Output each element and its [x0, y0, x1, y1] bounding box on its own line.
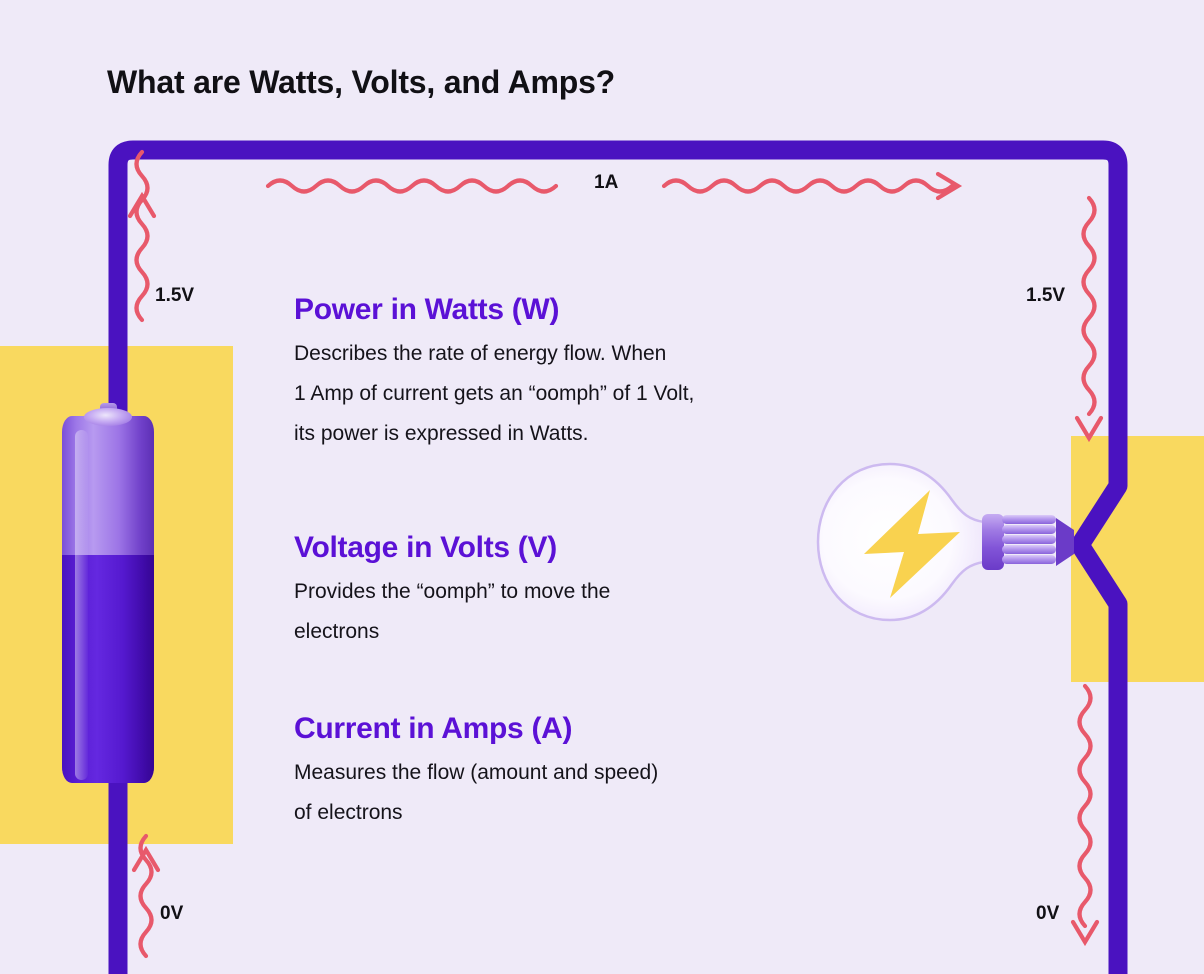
voltage-wave-top-right [1084, 198, 1095, 414]
concept-heading-amps: Current in Amps (A) [294, 712, 894, 745]
voltage-label-top-right: 1.5V [1026, 285, 1065, 307]
concept-heading-volts: Voltage in Volts (V) [294, 531, 894, 564]
concept-block-volts: Voltage in Volts (V) Provides the “oomph… [294, 531, 894, 652]
page-title: What are Watts, Volts, and Amps? [107, 64, 615, 101]
current-wave-top-left [268, 181, 556, 192]
voltage-wave-bottom-right [1080, 686, 1091, 926]
current-arrowhead-top [938, 174, 958, 198]
voltage-label-bottom-left: 0V [160, 903, 183, 925]
voltage-label-bottom-right: 0V [1036, 903, 1059, 925]
current-wave-top-right [664, 181, 952, 192]
voltage-arrowhead-top-left [130, 196, 154, 216]
voltage-label-top-left: 1.5V [155, 285, 194, 307]
voltage-wave-top-left [137, 152, 148, 320]
voltage-arrowhead-top-right [1077, 418, 1101, 438]
concept-block-amps: Current in Amps (A) Measures the flow (a… [294, 712, 894, 833]
infographic-canvas: What are Watts, Volts, and Amps? Power i… [0, 0, 1204, 974]
current-label-1a: 1A [594, 172, 618, 194]
concept-body-watts: Describes the rate of energy flow. When … [294, 334, 894, 454]
concept-heading-watts: Power in Watts (W) [294, 293, 894, 326]
concept-body-amps: Measures the flow (amount and speed) of … [294, 753, 894, 833]
concept-block-watts: Power in Watts (W) Describes the rate of… [294, 293, 894, 454]
concept-body-volts: Provides the “oomph” to move the electro… [294, 572, 894, 652]
